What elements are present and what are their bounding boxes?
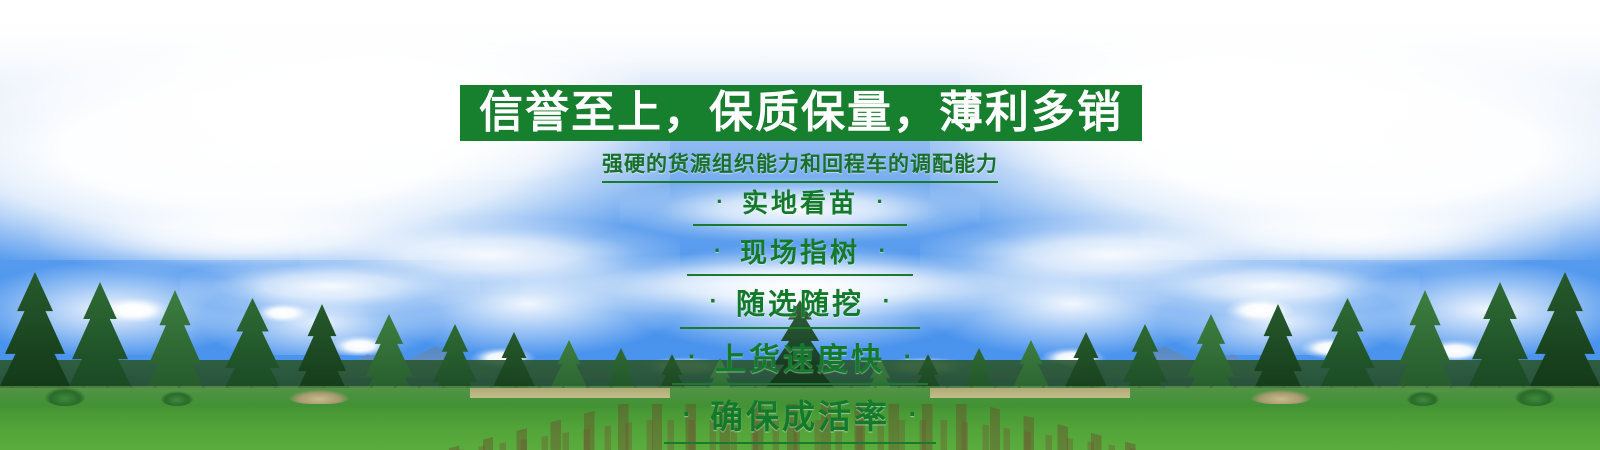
feature-row: · 实地看苗 · [0,183,1600,226]
feature-inner: · 随选随挖 · [680,281,920,329]
headline-text: 信誉至上，保质保量，薄利多销 [479,91,1123,135]
bullet-dot-left-icon: · [714,237,722,264]
feature-inner: · 实地看苗 · [693,183,907,226]
headline-banner: 信誉至上，保质保量，薄利多销 [460,85,1142,141]
subtitle-container: 强硬的货源组织能力和回程车的调配能力 [0,148,1600,183]
feature-label: 随选随挖 [736,287,864,321]
feature-row: · 随选随挖 · [0,281,1600,329]
bullet-dot-left-icon: · [716,189,723,215]
text-overlay: 信誉至上，保质保量，薄利多销 强硬的货源组织能力和回程车的调配能力 · 实地看苗… [0,0,1600,450]
feature-row: · 确保成活率 · [0,390,1600,444]
bullet-dot-left-icon: · [683,399,692,430]
feature-row: · 上货速度快 · [0,334,1600,385]
subtitle-text: 强硬的货源组织能力和回程车的调配能力 [602,148,998,183]
feature-row: · 现场指树 · [0,231,1600,276]
hero-banner: 信誉至上，保质保量，薄利多销 强硬的货源组织能力和回程车的调配能力 · 实地看苗… [0,0,1600,450]
feature-inner: · 现场指树 · [687,231,913,276]
feature-label: 上货速度快 [715,342,885,378]
bullet-dot-right-icon: · [908,399,917,430]
feature-label: 实地看苗 [742,189,858,219]
feature-list: · 实地看苗 · · 现场指树 · · 随选随挖 · [0,183,1600,444]
bullet-dot-right-icon: · [878,237,886,264]
bullet-dot-left-icon: · [688,341,697,372]
bullet-dot-left-icon: · [710,288,718,316]
feature-inner: · 上货速度快 · [672,334,928,385]
bullet-dot-right-icon: · [876,189,883,215]
feature-inner: · 确保成活率 · [664,390,936,444]
bullet-dot-right-icon: · [903,341,912,372]
feature-label: 确保成活率 [710,397,890,436]
bullet-dot-right-icon: · [882,288,890,316]
feature-label: 现场指树 [740,238,860,269]
